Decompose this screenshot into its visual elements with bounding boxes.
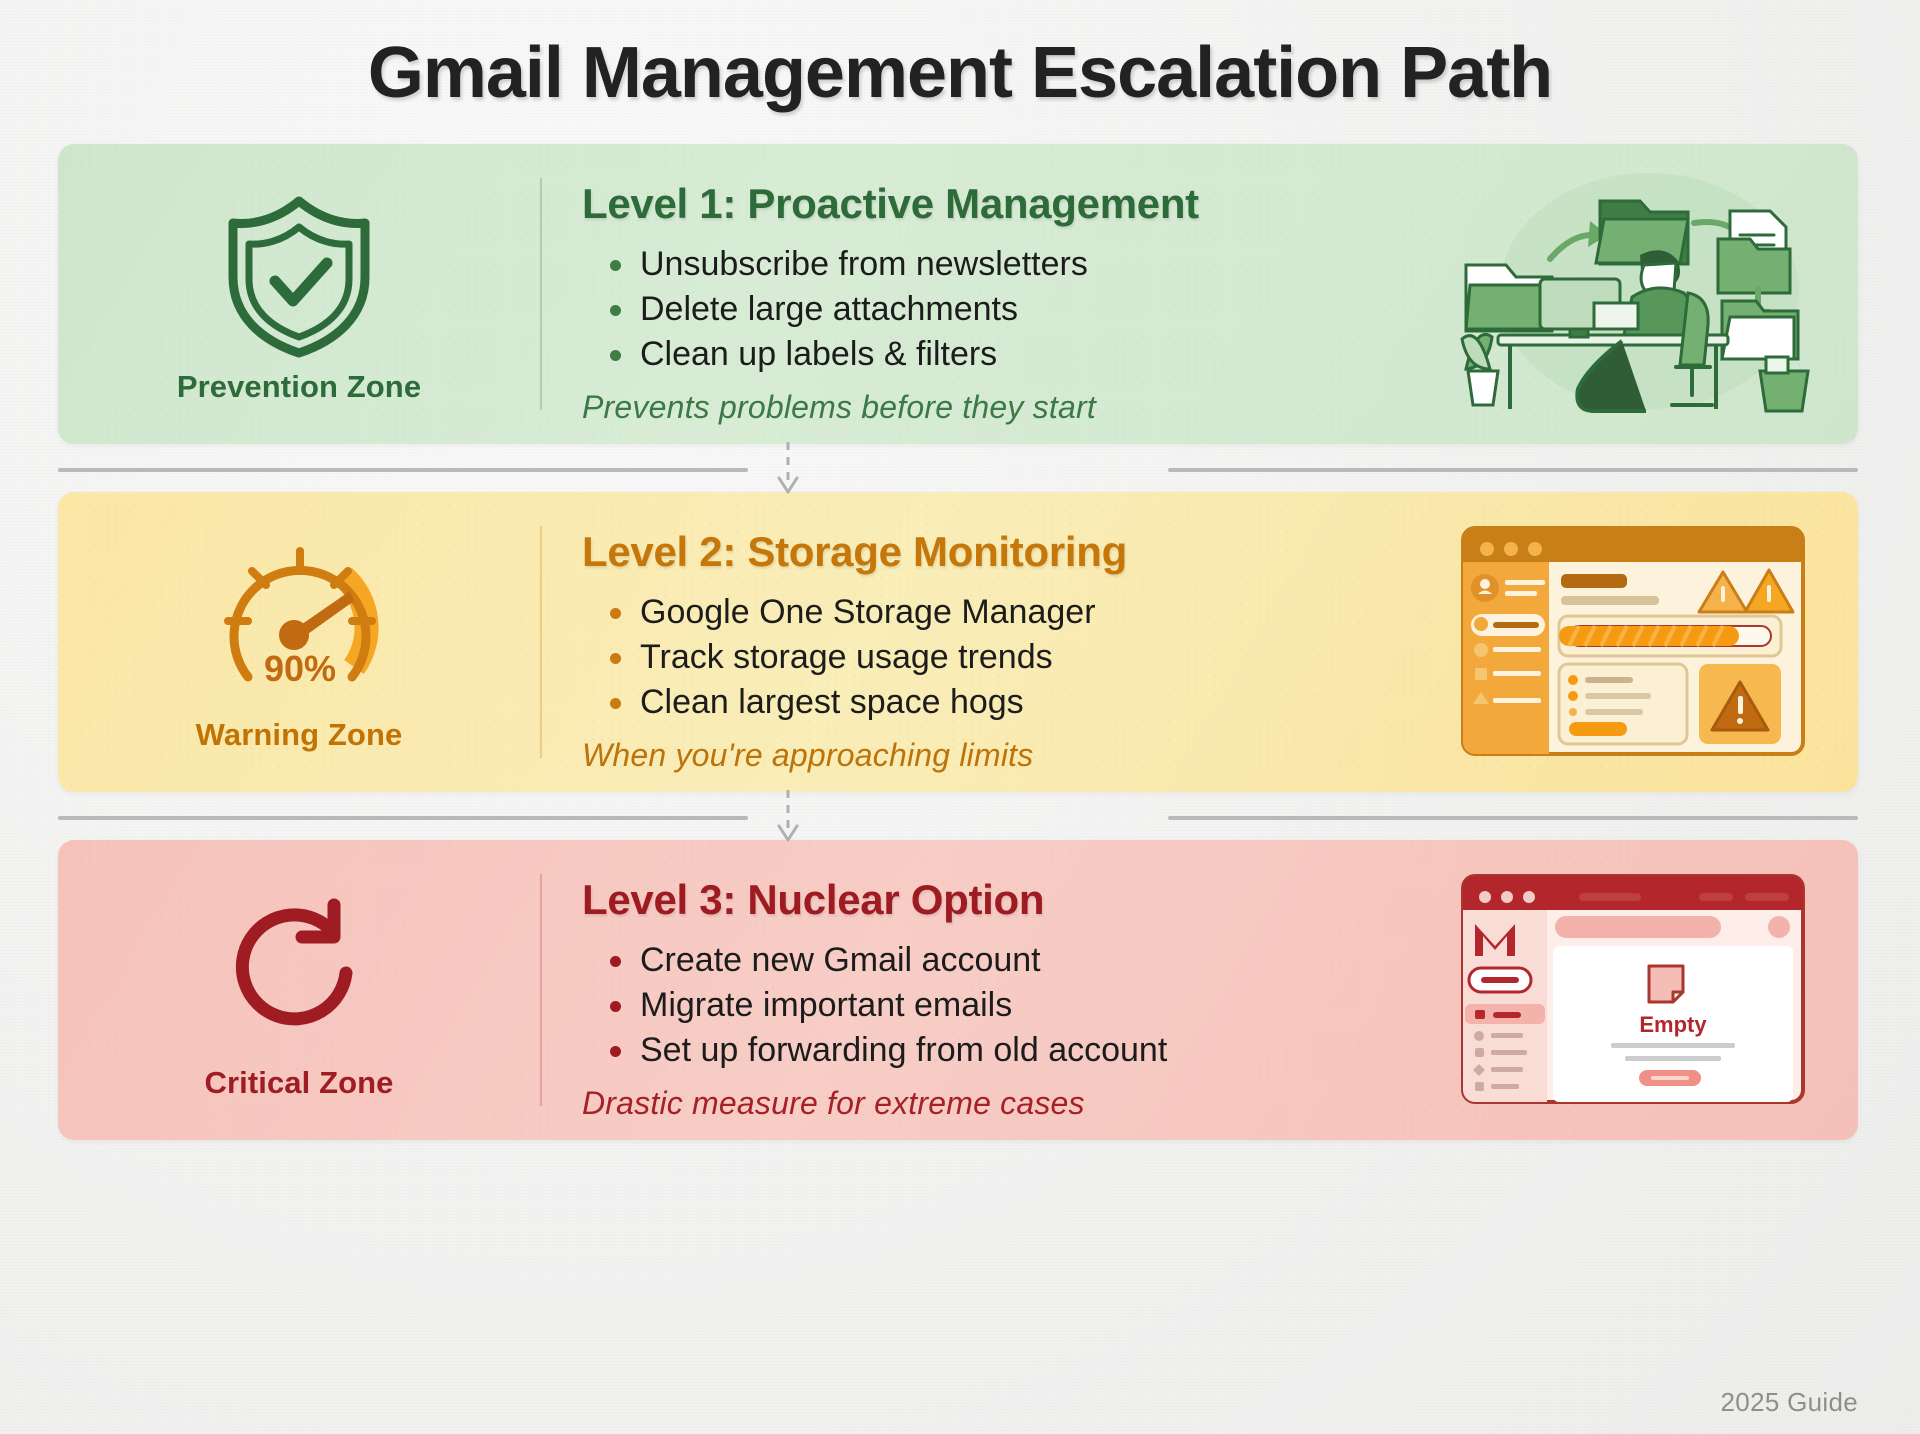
zone-block-3: Critical Zone — [58, 840, 540, 1140]
card-divider-3 — [540, 874, 542, 1106]
level-content-1: Level 1: Proactive Management Unsubscrib… — [540, 144, 1438, 444]
list-item: Delete large attachments — [610, 287, 1438, 332]
zone-block-2: 90% Warning Zone — [58, 492, 540, 792]
zone-label-1: Prevention Zone — [177, 369, 421, 405]
connector-line-left — [58, 816, 748, 820]
level-title-2: Level 2: Storage Monitoring — [582, 528, 1438, 576]
list-item: Clean largest space hogs — [610, 680, 1438, 725]
level-caption-3: Drastic measure for extreme cases — [582, 1085, 1438, 1122]
connector-1 — [58, 444, 1858, 492]
list-item: Google One Storage Manager — [610, 590, 1438, 635]
restart-circular-arrow-icon — [214, 887, 384, 1057]
list-item: Clean up labels & filters — [610, 332, 1438, 377]
illustration-empty-label: Empty — [1639, 1012, 1707, 1037]
level-card-3: Critical Zone Level 3: Nuclear Option Cr… — [58, 840, 1858, 1140]
illustration-3: Empty — [1438, 840, 1858, 1140]
level-card-1: Prevention Zone Level 1: Proactive Manag… — [58, 144, 1858, 444]
page-title: Gmail Management Escalation Path — [0, 32, 1920, 114]
bullet-list-3: Create new Gmail account Migrate importa… — [582, 938, 1438, 1073]
card-divider-2 — [540, 526, 542, 758]
footer-credit: 2025 Guide — [1721, 1387, 1858, 1418]
level-content-3: Level 3: Nuclear Option Create new Gmail… — [540, 840, 1438, 1140]
level-title-3: Level 3: Nuclear Option — [582, 876, 1438, 924]
zone-block-1: Prevention Zone — [58, 144, 540, 444]
list-item: Track storage usage trends — [610, 635, 1438, 680]
level-caption-2: When you're approaching limits — [582, 737, 1438, 774]
level-card-2: 90% Warning Zone Level 2: Storage Monito… — [58, 492, 1858, 792]
connector-2 — [58, 792, 1858, 840]
gauge-value: 90% — [264, 648, 336, 689]
gauge-icon: 90% — [204, 539, 394, 709]
connector-line-left — [58, 468, 748, 472]
list-item: Create new Gmail account — [610, 938, 1438, 983]
connector-line-right — [1168, 816, 1858, 820]
illustration-1 — [1438, 144, 1858, 444]
level-caption-1: Prevents problems before they start — [582, 389, 1438, 426]
list-item: Migrate important emails — [610, 983, 1438, 1028]
level-title-1: Level 1: Proactive Management — [582, 180, 1438, 228]
illustration-2 — [1438, 492, 1858, 792]
list-item: Unsubscribe from newsletters — [610, 242, 1438, 287]
down-arrow-icon — [770, 442, 806, 494]
connector-line-right — [1168, 468, 1858, 472]
bullet-list-1: Unsubscribe from newsletters Delete larg… — [582, 242, 1438, 377]
card-divider-1 — [540, 178, 542, 410]
list-item: Set up forwarding from old account — [610, 1028, 1438, 1073]
bullet-list-2: Google One Storage Manager Track storage… — [582, 590, 1438, 725]
shield-check-icon — [219, 191, 379, 361]
down-arrow-icon — [770, 790, 806, 842]
level-content-2: Level 2: Storage Monitoring Google One S… — [540, 492, 1438, 792]
zone-label-3: Critical Zone — [204, 1065, 393, 1101]
zone-label-2: Warning Zone — [196, 717, 403, 753]
